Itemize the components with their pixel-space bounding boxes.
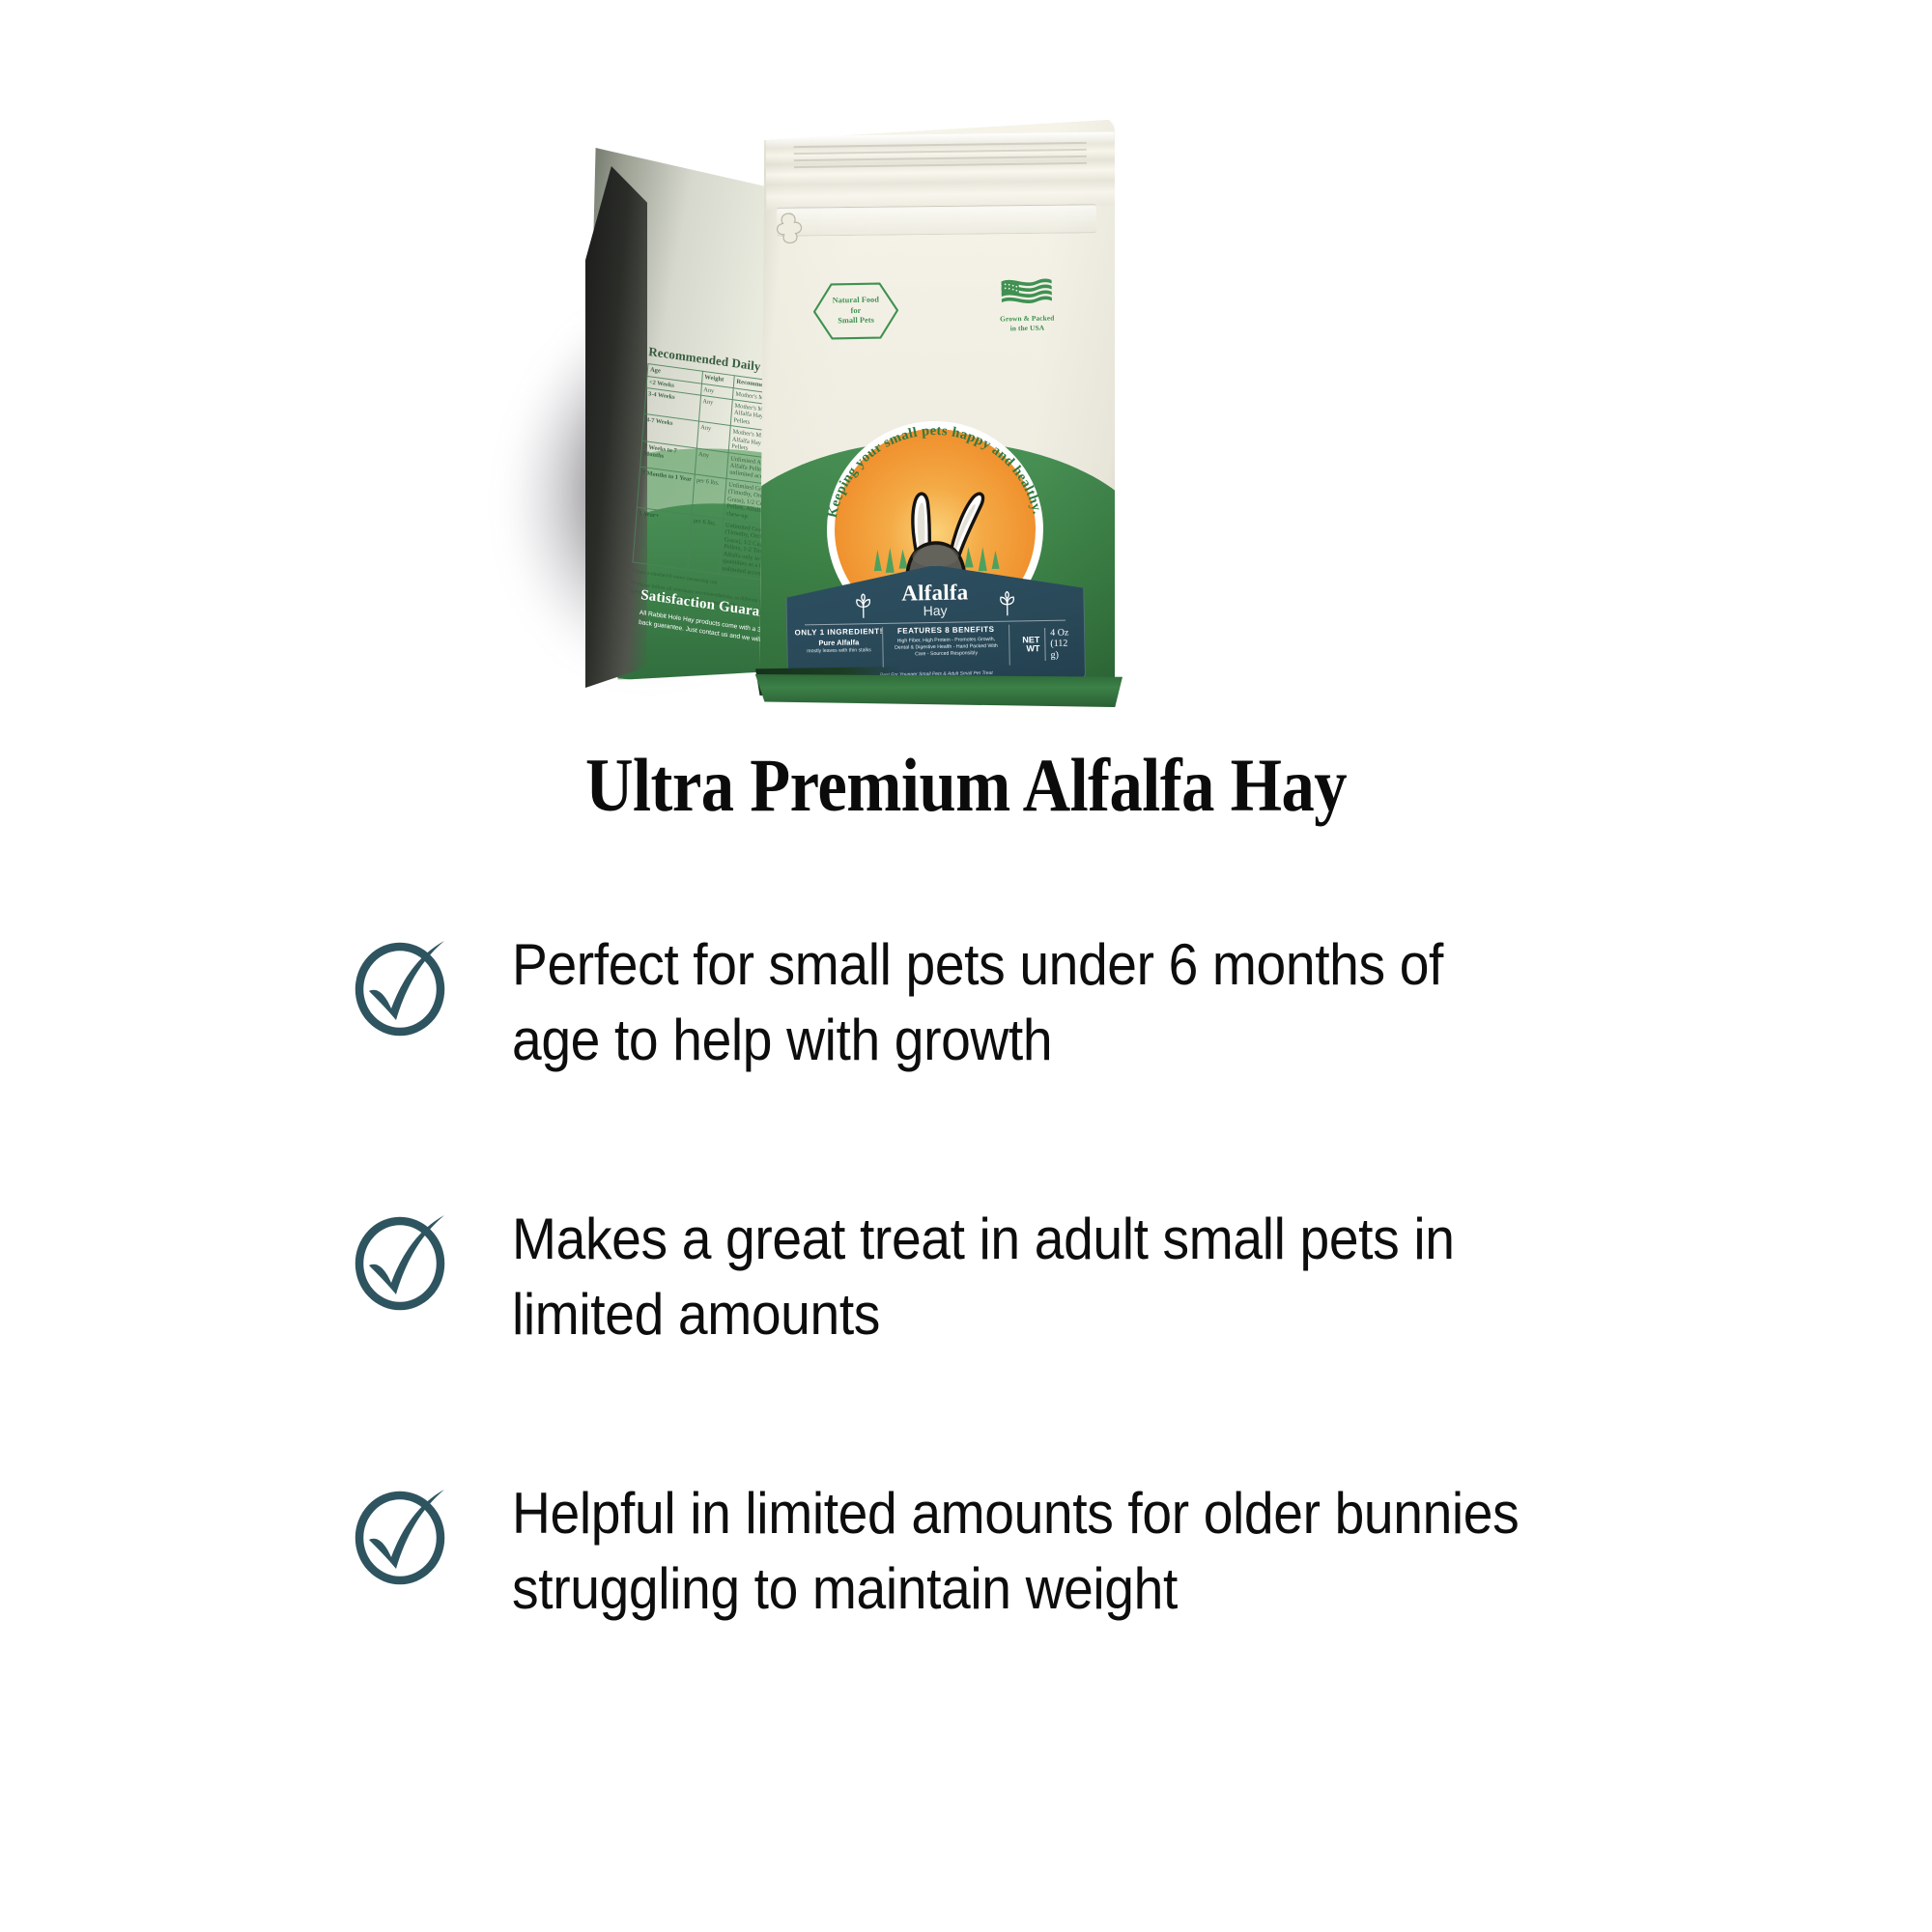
hang-hole-icon [774, 211, 806, 246]
benefits-column: FEATURES 8 BENEFITS High Fiber, High Pro… [882, 625, 1009, 668]
product-feature-page: Recommended Daily Feeding Age Weight Rec… [0, 0, 1932, 1932]
product-type: Hay [923, 603, 947, 618]
feeding-weight: per 6 lbs. [692, 474, 726, 520]
feeding-weight: per 6 lbs. [687, 515, 724, 574]
list-item: Helpful in limited amounts for older bun… [348, 1476, 1633, 1627]
usa-badge-text: Grown & Packed in the USA [980, 313, 1073, 334]
bag-front-panel: Natural Food for Small Pets [755, 116, 1115, 696]
grown-packed-usa-badge: Grown & Packed in the USA [980, 274, 1073, 334]
check-circle-icon [348, 931, 456, 1039]
natural-food-badge-text: Natural Food for Small Pets [810, 280, 900, 342]
list-item: Makes a great treat in adult small pets … [348, 1202, 1633, 1352]
product-bag: Recommended Daily Feeding Age Weight Rec… [541, 116, 1236, 715]
ingredient-name: Pure Alfalfa [818, 638, 859, 647]
bag-seal-band [777, 204, 1096, 236]
net-weight-column: NET WT 4 Oz (112 g) [1009, 623, 1076, 665]
badge-line-1: Natural Food [832, 296, 878, 306]
product-name: Alfalfa [901, 580, 969, 605]
alfalfa-sprig-icon-left [853, 593, 872, 618]
feeding-age: 1 Year+ [633, 507, 692, 570]
ingredient-column: ONLY 1 INGREDIENT! Pure Alfalfa mostly l… [795, 627, 883, 669]
badge-line-2: for [850, 306, 861, 317]
benefit-text: Perfect for small pets under 6 months of… [512, 927, 1543, 1078]
usa-flag-icon [999, 275, 1054, 311]
label-detail-columns: ONLY 1 INGREDIENT! Pure Alfalfa mostly l… [787, 619, 1085, 668]
natural-food-badge: Natural Food for Small Pets [810, 280, 900, 342]
net-weight-grams: (112 g) [1050, 639, 1067, 661]
product-hero-image: Recommended Daily Feeding Age Weight Rec… [0, 0, 1932, 734]
benefits-list: Perfect for small pets under 6 months of… [348, 927, 1633, 1627]
benefit-text: Helpful in limited amounts for older bun… [512, 1476, 1543, 1627]
benefits-heading: FEATURES 8 BENEFITS [896, 625, 994, 636]
benefit-text: Makes a great treat in adult small pets … [512, 1202, 1543, 1352]
usa-line-2: in the USA [980, 323, 1073, 334]
net-weight-label: NET WT [1014, 636, 1039, 654]
ingredient-heading: ONLY 1 INGREDIENT! [794, 627, 882, 638]
bag-zipper-seal [766, 132, 1115, 211]
check-circle-icon [348, 1480, 456, 1588]
benefits-detail: High Fiber, High Protein - Promotes Grow… [888, 636, 1004, 658]
alfalfa-sprig-icon-right [997, 591, 1016, 616]
page-title: Ultra Premium Alfalfa Hay [116, 742, 1816, 829]
bag-bottom-gusset [750, 674, 1122, 707]
bag-side-crease [585, 166, 647, 688]
net-weight-oz: 4 Oz [1050, 627, 1068, 638]
list-item: Perfect for small pets under 6 months of… [348, 927, 1633, 1078]
net-weight-value: 4 Oz (112 g) [1044, 627, 1071, 661]
check-circle-icon [348, 1206, 456, 1314]
ingredient-note: mostly leaves with thin stalks [807, 647, 871, 655]
badge-line-3: Small Pets [838, 316, 874, 327]
